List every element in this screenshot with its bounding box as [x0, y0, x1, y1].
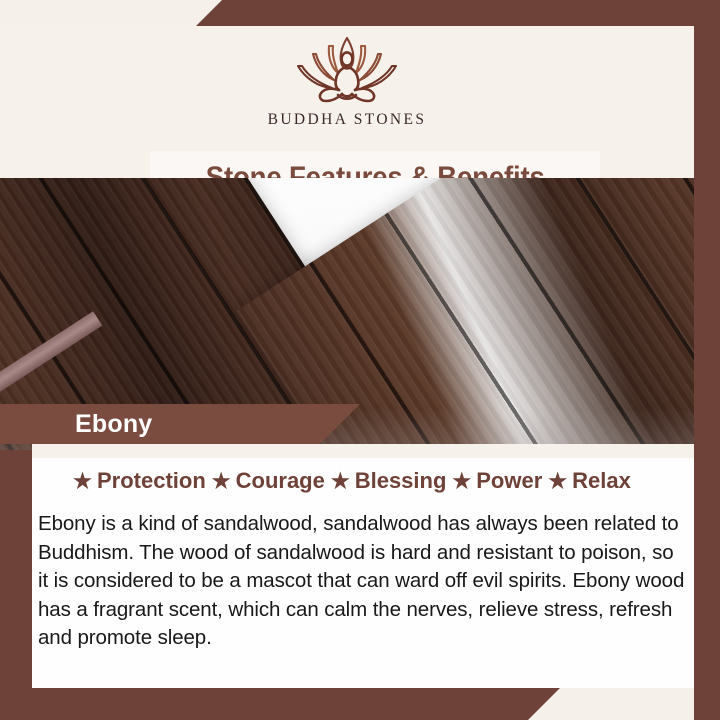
product-label-band: Ebony	[0, 404, 360, 444]
content-top-strip	[32, 444, 694, 458]
lotus-meditation-icon	[272, 32, 422, 108]
infographic-page: BUDDHA STONES Stone Features & Benefits …	[0, 0, 720, 720]
benefit-item-courage: ★Courage	[212, 468, 325, 494]
benefit-item-blessing: ★Blessing	[331, 468, 447, 494]
star-icon: ★	[452, 471, 471, 492]
star-icon: ★	[331, 471, 350, 492]
benefit-item-power: ★Power	[452, 468, 542, 494]
star-icon: ★	[73, 471, 92, 492]
benefit-label: Blessing	[355, 468, 447, 494]
benefit-label: Courage	[236, 468, 325, 494]
star-icon: ★	[212, 471, 231, 492]
product-label: Ebony	[75, 410, 152, 439]
benefit-item-protection: ★Protection	[73, 468, 206, 494]
brand-logo: BUDDHA STONES	[0, 32, 694, 129]
description-text: Ebony is a kind of sandalwood, sandalwoo…	[38, 510, 686, 653]
brand-name: BUDDHA STONES	[268, 111, 427, 129]
decor-bar-right	[694, 0, 720, 720]
decor-bar-top	[196, 0, 720, 26]
decor-bar-bottom	[0, 688, 560, 720]
benefit-label: Protection	[97, 468, 206, 494]
benefits-list: ★Protection★Courage★Blessing★Power★Relax	[32, 468, 672, 494]
header: BUDDHA STONES Stone Features & Benefits	[0, 26, 694, 178]
star-icon: ★	[548, 471, 567, 492]
benefit-label: Relax	[572, 468, 631, 494]
content-panel: ★Protection★Courage★Blessing★Power★Relax…	[32, 444, 694, 688]
benefit-label: Power	[476, 468, 542, 494]
benefit-item-relax: ★Relax	[548, 468, 631, 494]
